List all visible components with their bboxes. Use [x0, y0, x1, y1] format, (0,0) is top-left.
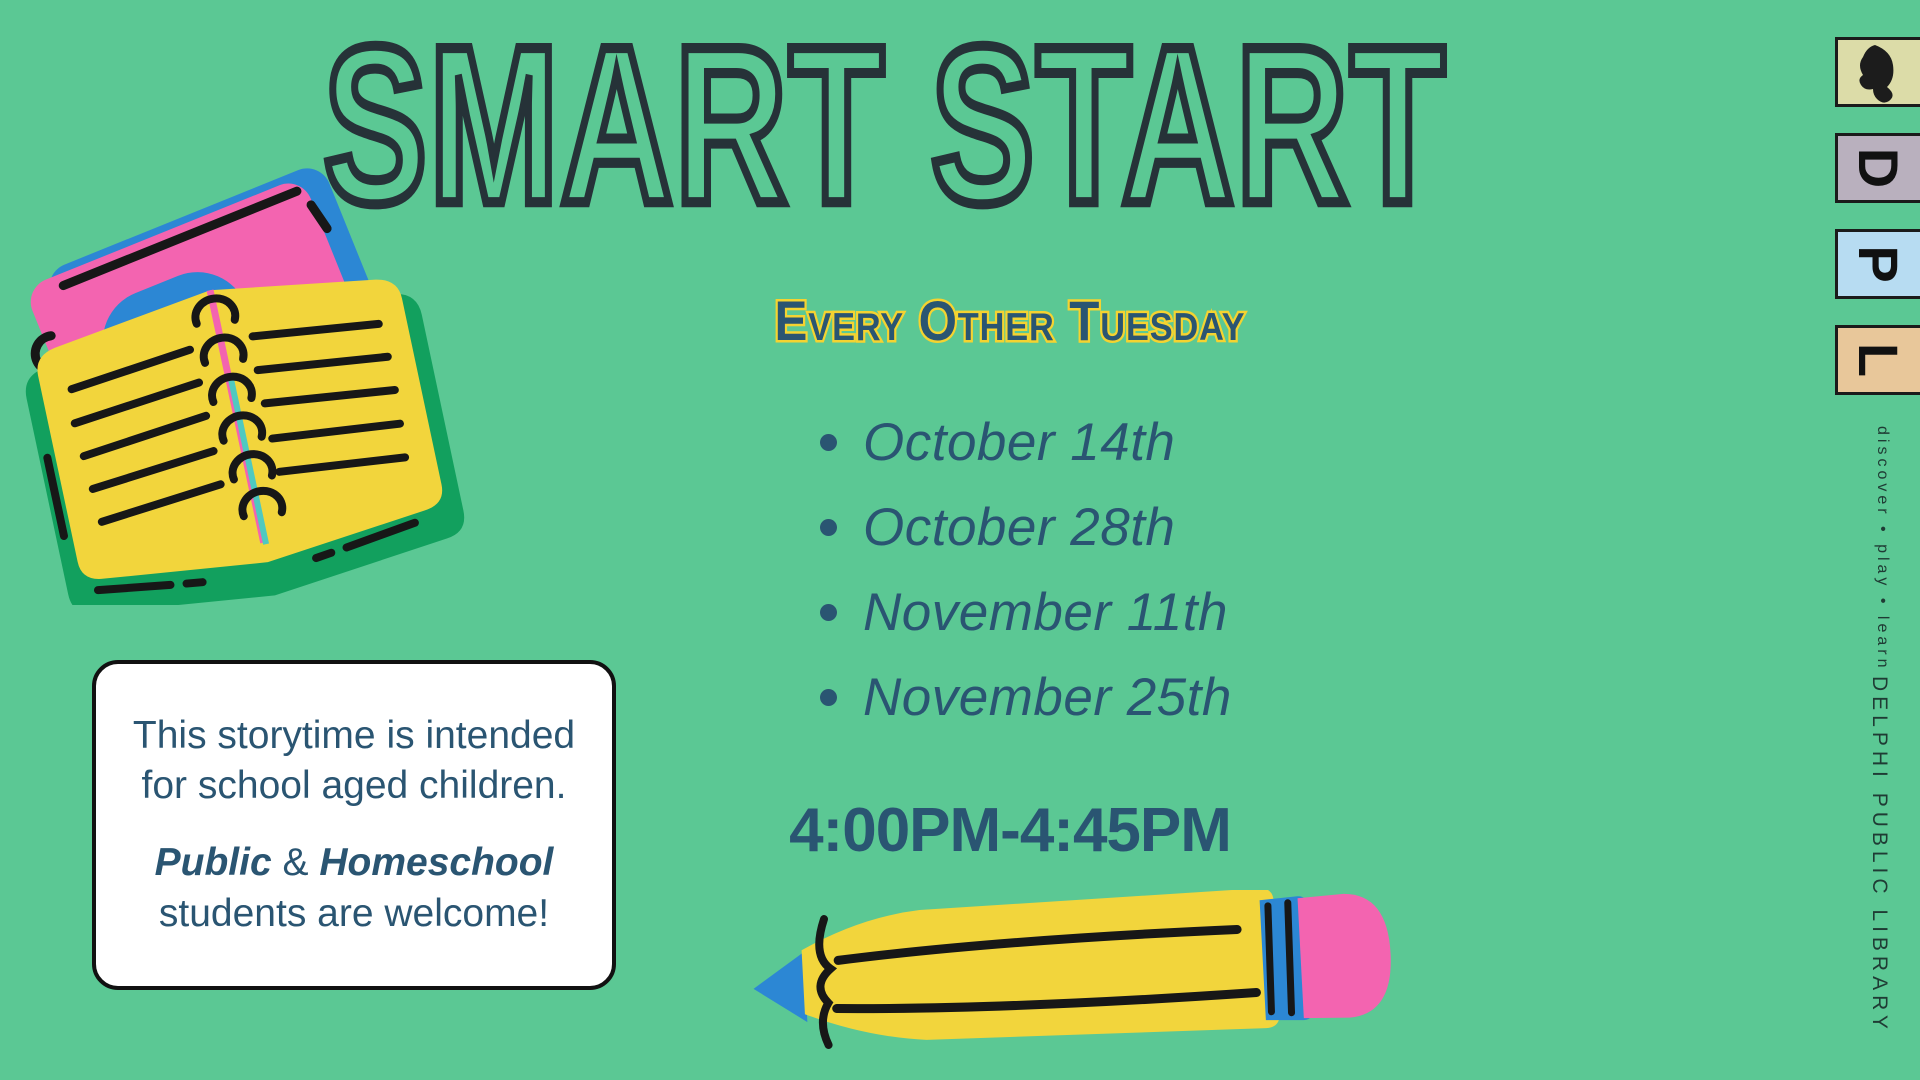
event-time: 4:00PM-4:45PM — [700, 795, 1320, 866]
list-item: October 14th — [820, 400, 1340, 485]
info-line-2: for school aged children. — [142, 761, 567, 812]
date-list: October 14th October 28th November 11th … — [820, 400, 1340, 740]
info-audience-line: Public & Homeschool — [155, 838, 554, 889]
list-item: November 25th — [820, 655, 1340, 740]
bullet-icon — [820, 434, 837, 451]
info-line-4: students are welcome! — [159, 889, 549, 940]
list-item: November 11th — [820, 570, 1340, 655]
bullet-icon — [820, 604, 837, 621]
dog-icon — [1853, 41, 1905, 103]
date-label: October 28th — [863, 497, 1175, 558]
library-name: DELPHI PUBLIC LIBRARY — [1867, 676, 1891, 1034]
audience-ampersand: & — [282, 841, 308, 884]
library-wordmark: DELPHI PUBLIC LIBRARY discover • play • … — [1867, 426, 1891, 1033]
pencil-illustration — [735, 890, 1415, 1050]
bullet-icon — [820, 519, 837, 536]
date-label: November 25th — [863, 667, 1232, 728]
letter-d-tile: D — [1835, 133, 1920, 203]
open-book-illustration — [20, 255, 480, 605]
date-label: October 14th — [863, 412, 1175, 473]
audience-public: Public — [155, 841, 272, 884]
poster-canvas: SMART START — [0, 0, 1920, 1080]
info-line-1: This storytime is intended — [133, 711, 575, 762]
letter-l-tile: L — [1835, 325, 1920, 395]
bullet-icon — [820, 689, 837, 706]
library-logo-sidebar: D P L DELPHI PUBLIC LIBRARY discover • p… — [1838, 0, 1920, 1080]
schedule-subtitle: Every Other Tuesday — [737, 292, 1283, 351]
info-box: This storytime is intended for school ag… — [92, 660, 616, 990]
date-label: November 11th — [863, 582, 1228, 643]
dog-silhouette-tile — [1835, 37, 1920, 107]
audience-homeschool: Homeschool — [319, 841, 553, 884]
list-item: October 28th — [820, 485, 1340, 570]
library-tagline: discover • play • learn — [1867, 426, 1891, 672]
letter-p-tile: P — [1835, 229, 1920, 299]
